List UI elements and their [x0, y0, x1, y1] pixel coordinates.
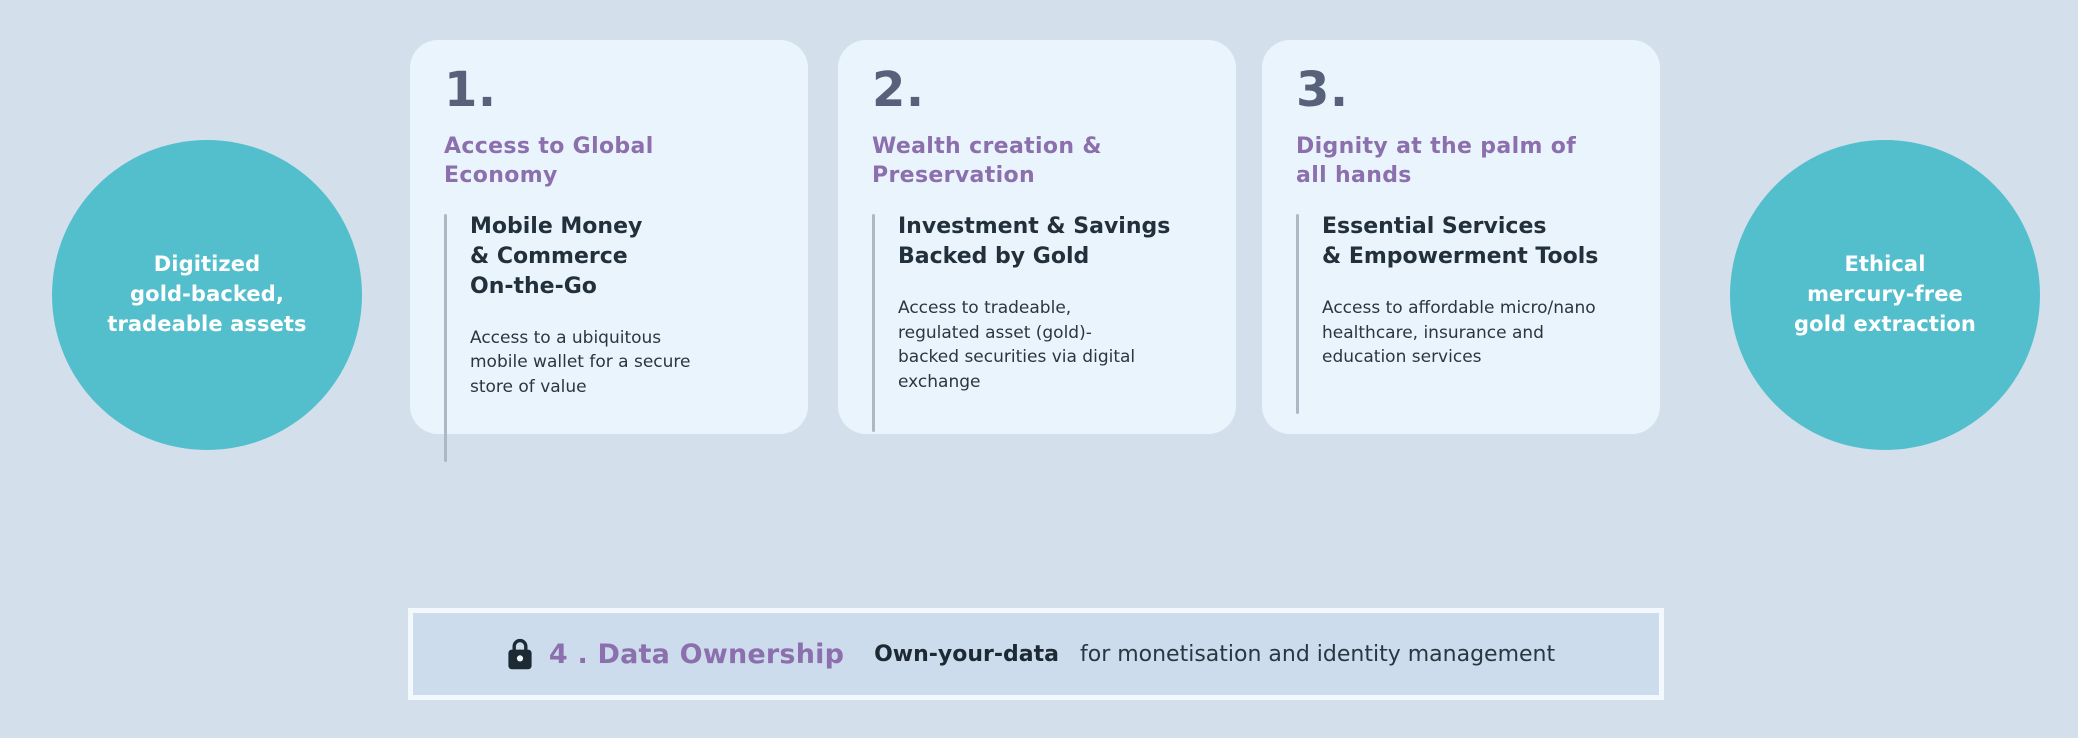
- banner-content: 4 . Data Ownership Own-your-data for mon…: [505, 637, 1555, 671]
- card-3-description: Access to affordable micro/nano healthca…: [1322, 296, 1626, 370]
- card-2-subtitle: Investment & Savings Backed by Gold: [898, 212, 1202, 272]
- card-3-subtitle: Essential Services & Empowerment Tools: [1322, 212, 1626, 272]
- value-card-3[interactable]: 3. Dignity at the palm of all hands Esse…: [1262, 40, 1660, 434]
- infographic-canvas: Digitized gold-backed, tradeable assets …: [0, 0, 2078, 738]
- card-3-number: 3.: [1296, 66, 1626, 114]
- card-2-heading: Wealth creation & Preservation: [872, 132, 1202, 190]
- card-3-divider: [1296, 214, 1299, 414]
- card-3-heading: Dignity at the palm of all hands: [1296, 132, 1626, 190]
- banner-strong-text: Own-your-data: [874, 642, 1059, 667]
- card-2-divider: [872, 214, 875, 432]
- circle-ethical-extraction: Ethical mercury-free gold extraction: [1730, 140, 2040, 450]
- value-card-1[interactable]: 1. Access to Global Economy Mobile Money…: [410, 40, 808, 434]
- banner-label: 4 . Data Ownership: [549, 639, 844, 670]
- card-3-body: Essential Services & Empowerment Tools A…: [1296, 212, 1626, 370]
- card-1-body: Mobile Money & Commerce On-the-Go Access…: [444, 212, 774, 400]
- card-1-heading: Access to Global Economy: [444, 132, 774, 190]
- card-1-description: Access to a ubiquitous mobile wallet for…: [470, 326, 774, 400]
- circle-left-text: Digitized gold-backed, tradeable assets: [81, 250, 332, 339]
- circle-digitized-assets: Digitized gold-backed, tradeable assets: [52, 140, 362, 450]
- circle-right-text: Ethical mercury-free gold extraction: [1768, 250, 2002, 339]
- data-ownership-banner[interactable]: 4 . Data Ownership Own-your-data for mon…: [408, 608, 1664, 700]
- card-1-number: 1.: [444, 66, 774, 114]
- card-2-description: Access to tradeable, regulated asset (go…: [898, 296, 1202, 395]
- card-2-number: 2.: [872, 66, 1202, 114]
- value-card-2[interactable]: 2. Wealth creation & Preservation Invest…: [838, 40, 1236, 434]
- lock-icon: [505, 637, 535, 671]
- card-1-divider: [444, 214, 447, 462]
- card-2-body: Investment & Savings Backed by Gold Acce…: [872, 212, 1202, 394]
- card-1-subtitle: Mobile Money & Commerce On-the-Go: [470, 212, 774, 302]
- banner-rest-text: for monetisation and identity management: [1080, 642, 1555, 667]
